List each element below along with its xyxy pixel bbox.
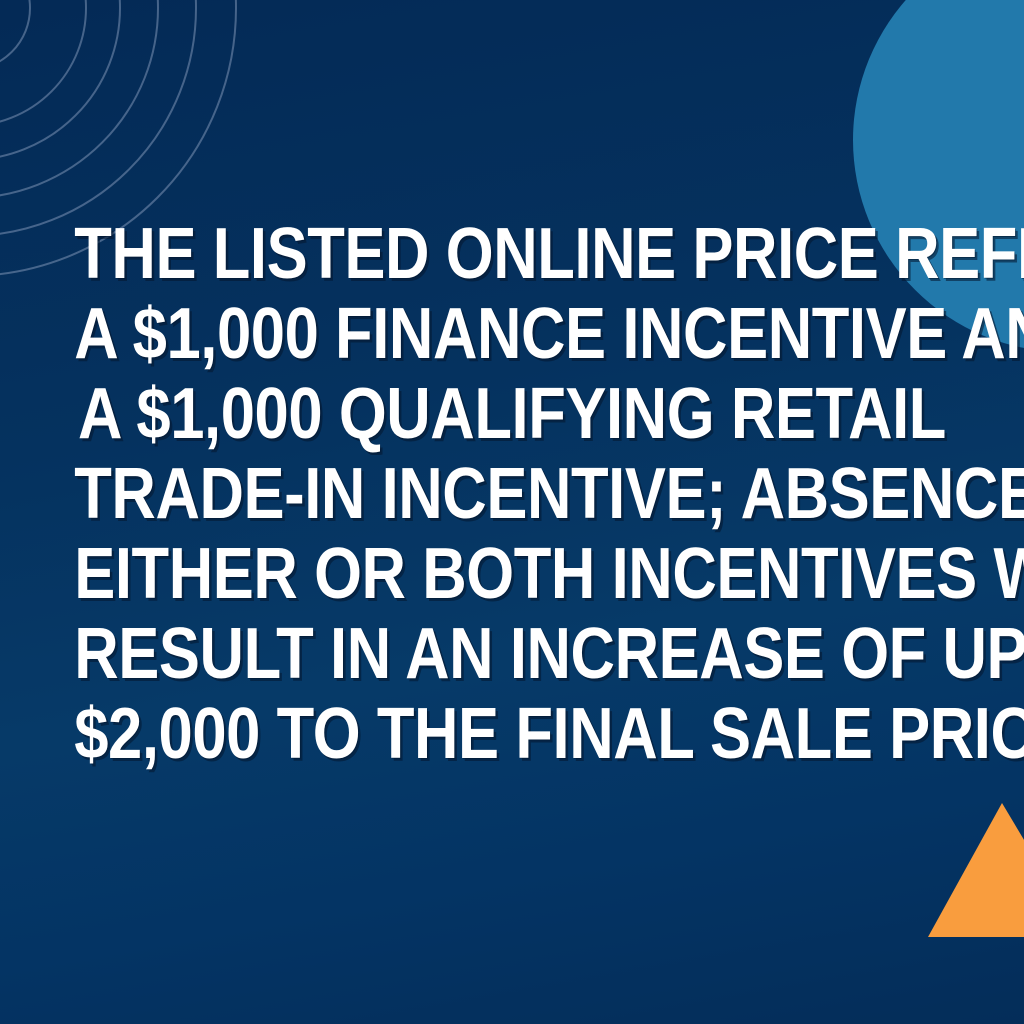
headline-line-3: A $1,000 QUALIFYING RETAIL [74, 374, 950, 454]
headline-line-2: A $1,000 FINANCE INCENTIVE AND [74, 294, 950, 374]
headline-line-7: $2,000 TO THE FINAL SALE PRICE. [74, 694, 950, 774]
headline-line-6: RESULT IN AN INCREASE OF UP TO [74, 614, 950, 694]
headline-line-4: TRADE-IN INCENTIVE; ABSENCE OF [74, 454, 950, 534]
accent-triangle-shape [925, 803, 1024, 937]
headline-line-1: THE LISTED ONLINE PRICE REFLECTS [74, 214, 950, 294]
headline-line-5: EITHER OR BOTH INCENTIVES WILL [74, 534, 950, 614]
disclosure-headline: THE LISTED ONLINE PRICE REFLECTS A $1,00… [0, 214, 1024, 774]
disclosure-graphic: THE LISTED ONLINE PRICE REFLECTS A $1,00… [0, 0, 1024, 1024]
